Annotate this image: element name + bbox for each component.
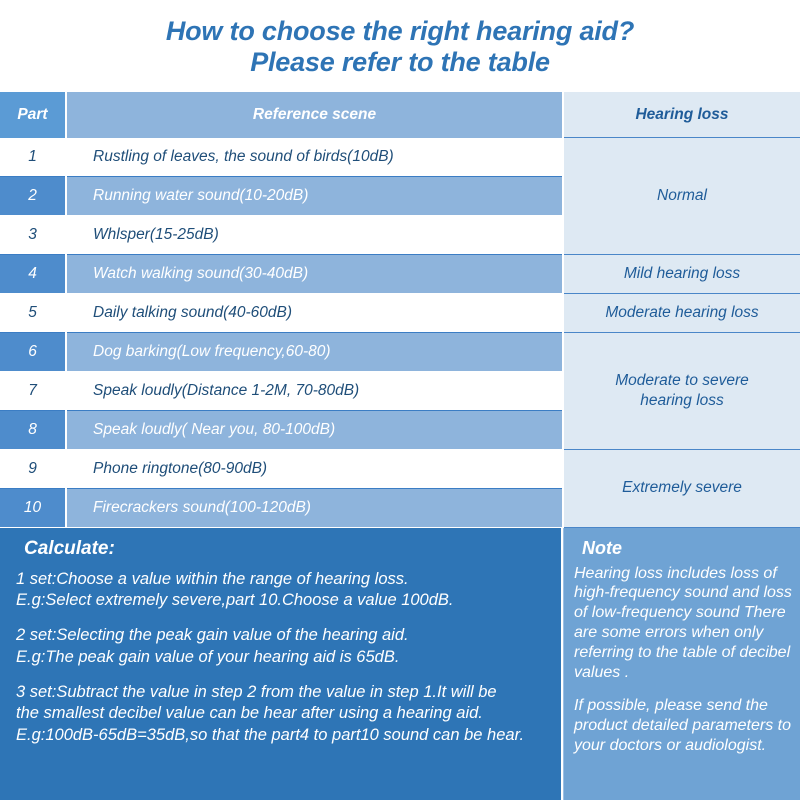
cell-hearing-loss: Moderate to severe hearing loss [563, 332, 800, 449]
cell-part: 9 [0, 449, 66, 488]
note-title: Note [582, 538, 792, 559]
cell-reference-scene: Rustling of leaves, the sound of birds(1… [66, 138, 563, 177]
cell-part: 8 [0, 410, 66, 449]
calculate-title: Calculate: [24, 538, 547, 560]
note-panel: Note Hearing loss includes loss of high-… [563, 528, 800, 800]
calculate-step: 1 set:Choose a value within the range of… [16, 569, 547, 613]
cell-part: 2 [0, 176, 66, 215]
table-row: 5Daily talking sound(40-60dB)Moderate he… [0, 293, 800, 332]
cell-reference-scene: Watch walking sound(30-40dB) [66, 254, 563, 293]
note-paragraph: If possible, please send the product det… [574, 696, 792, 755]
cell-part: 7 [0, 371, 66, 410]
cell-hearing-loss: Normal [563, 138, 800, 255]
cell-hearing-loss: Moderate hearing loss [563, 293, 800, 332]
column-header-scene: Reference scene [66, 92, 563, 138]
column-header-loss: Hearing loss [563, 92, 800, 138]
cell-reference-scene: Daily talking sound(40-60dB) [66, 293, 563, 332]
cell-part: 10 [0, 488, 66, 527]
cell-reference-scene: Firecrackers sound(100-120dB) [66, 488, 563, 527]
cell-reference-scene: Dog barking(Low frequency,60-80) [66, 332, 563, 371]
table-row: 9Phone ringtone(80-90dB)Extremely severe [0, 449, 800, 488]
cell-part: 5 [0, 293, 66, 332]
cell-part: 3 [0, 215, 66, 254]
bottom-panels: Calculate: 1 set:Choose a value within t… [0, 528, 800, 800]
calculate-steps: 1 set:Choose a value within the range of… [16, 569, 547, 747]
note-body: Hearing loss includes loss of high-frequ… [574, 564, 792, 756]
cell-part: 1 [0, 138, 66, 177]
table-header-row: Part Reference scene Hearing loss [0, 92, 800, 138]
cell-reference-scene: Speak loudly(Distance 1-2M, 70-80dB) [66, 371, 563, 410]
note-paragraph: Hearing loss includes loss of high-frequ… [574, 564, 792, 683]
title-line-1: How to choose the right hearing aid? [166, 16, 634, 47]
cell-reference-scene: Running water sound(10-20dB) [66, 176, 563, 215]
calculate-step: 2 set:Selecting the peak gain value of t… [16, 625, 547, 669]
cell-reference-scene: Phone ringtone(80-90dB) [66, 449, 563, 488]
cell-part: 6 [0, 332, 66, 371]
hearing-loss-table-wrap: Part Reference scene Hearing loss 1Rustl… [0, 92, 800, 528]
table-body: 1Rustling of leaves, the sound of birds(… [0, 138, 800, 528]
calculate-step: 3 set:Subtract the value in step 2 from … [16, 682, 547, 747]
page-title: How to choose the right hearing aid? Ple… [0, 0, 800, 92]
hearing-loss-table: Part Reference scene Hearing loss 1Rustl… [0, 92, 800, 528]
cell-hearing-loss: Mild hearing loss [563, 254, 800, 293]
table-row: 1Rustling of leaves, the sound of birds(… [0, 138, 800, 177]
title-line-2: Please refer to the table [250, 47, 550, 78]
hearing-aid-infographic: How to choose the right hearing aid? Ple… [0, 0, 800, 800]
cell-hearing-loss: Extremely severe [563, 449, 800, 527]
cell-part: 4 [0, 254, 66, 293]
cell-reference-scene: Whlsper(15-25dB) [66, 215, 563, 254]
column-header-part: Part [0, 92, 66, 138]
calculate-panel: Calculate: 1 set:Choose a value within t… [0, 528, 563, 800]
table-header: Part Reference scene Hearing loss [0, 92, 800, 138]
cell-reference-scene: Speak loudly( Near you, 80-100dB) [66, 410, 563, 449]
table-row: 4Watch walking sound(30-40dB)Mild hearin… [0, 254, 800, 293]
table-row: 6Dog barking(Low frequency,60-80)Moderat… [0, 332, 800, 371]
